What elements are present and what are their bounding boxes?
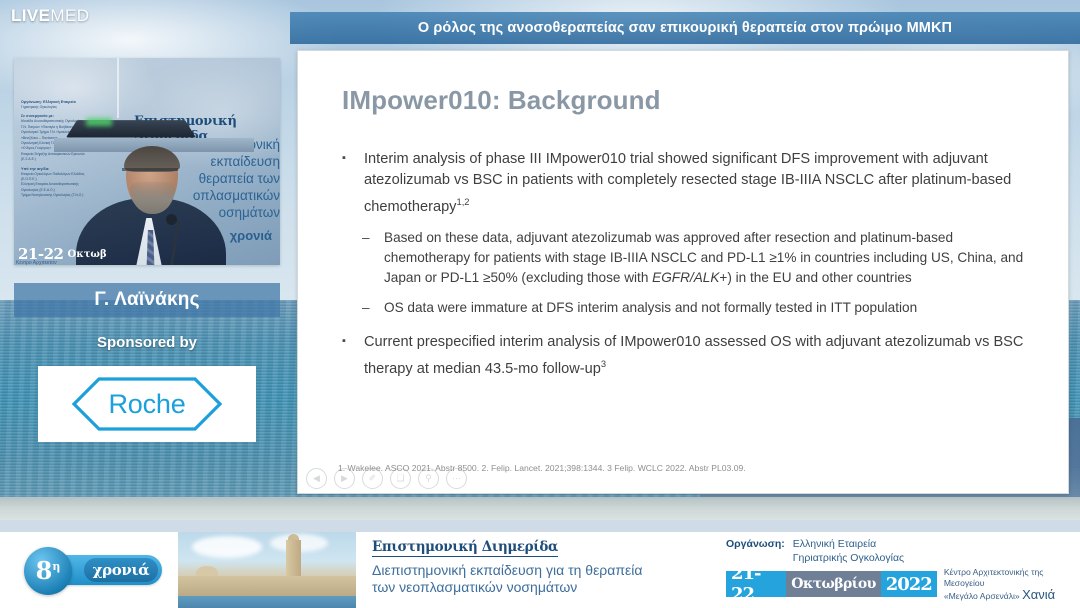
- badge-number: 8η: [36, 559, 61, 583]
- event-subtitle-line-1: Διεπιστημονική εκπαίδευση για τη θεραπεί…: [372, 562, 710, 579]
- sponsored-by-label: Sponsored by: [14, 334, 280, 351]
- speaker-video-feed[interactable]: Οργάνωση: Ελληνική Εταιρεία Γηριατρικής …: [14, 58, 280, 265]
- backdrop-divider: [117, 58, 119, 118]
- organizer-line-2: Γηριατρικής Ογκολογίας: [793, 552, 904, 566]
- anniversary-badge-area: χρονιά 8η: [0, 532, 178, 608]
- venue-photo: [178, 532, 356, 608]
- slide-subbullet: Based on these data, adjuvant atezolizum…: [338, 228, 1038, 288]
- slide-body: Interim analysis of phase III IMpower010…: [338, 149, 1038, 386]
- session-title: Ο ρόλος της ανοσοθεραπείας σαν επικουρικ…: [418, 20, 952, 36]
- badge-number-suffix: η: [52, 560, 60, 573]
- livemed-logo-light: MED: [50, 6, 89, 25]
- slide-bullet: Current prespecified interim analysis of…: [338, 332, 1038, 380]
- slide-title: IMpower010: Background: [342, 85, 661, 116]
- event-date-bar: 21-22 Οκτωβρίου 2022 Κέντρο Αρχιτεκτονικ…: [726, 571, 1080, 597]
- more-options-icon[interactable]: ⋯: [446, 468, 467, 489]
- fineprint-heading: Υπό την αιγίδα:: [21, 167, 113, 171]
- bullet-text: OS data were immature at DFS interim ana…: [384, 300, 917, 315]
- fineprint-heading: Οργάνωση: Ελληνική Εταιρεία: [21, 100, 113, 104]
- roche-logo: Roche: [71, 376, 223, 432]
- event-date-year: 2022: [881, 571, 937, 597]
- anniversary-badge: χρονιά 8η: [14, 547, 164, 593]
- zoom-slide-icon[interactable]: ⚲: [418, 468, 439, 489]
- play-slide-icon[interactable]: ▶: [334, 468, 355, 489]
- event-venue: Κέντρο Αρχιτεκτονικής της Μεσογείου «Μεγ…: [937, 571, 1080, 597]
- roche-wordmark: Roche: [71, 376, 223, 432]
- bullet-text: +) in the EU and other countries: [719, 270, 911, 285]
- speaker-name-banner: Γ. Λαϊνάκης: [14, 283, 280, 317]
- event-footer: χρονιά 8η Επιστημονική Διημερίδα Διεπιστ…: [0, 532, 1080, 608]
- bullet-text-italic: EGFR/ALK: [652, 270, 719, 285]
- event-title: Επιστημονική Διημερίδα: [372, 539, 558, 557]
- organizer-row: Οργάνωση: Ελληνική Εταιρεία Γηριατρικής …: [726, 538, 1080, 565]
- speaker-name: Γ. Λαϊνάκης: [94, 289, 199, 311]
- fineprint-line: Τμήμα Νοσηλευτικής Ογκολογίας (Τ.Ν.Ο.): [21, 193, 113, 198]
- photo-cloud: [192, 536, 262, 558]
- fineprint-line: Γηριατρικής Ογκολογίας: [21, 105, 113, 110]
- event-info: Επιστημονική Διημερίδα Διεπιστημονική εκ…: [360, 532, 710, 608]
- badge-number-value: 8: [36, 556, 53, 585]
- venue-city: Χανιά: [1022, 587, 1055, 602]
- bullet-text: Current prespecified interim analysis of…: [364, 334, 1023, 377]
- event-subtitle-line-2: των νεοπλασματικών νοσημάτων: [372, 579, 710, 596]
- venue-building: «Μεγάλο Αρσενάλι»: [944, 591, 1020, 601]
- speaker-glasses: [122, 168, 178, 171]
- venue-line-1: Κέντρο Αρχιτεκτονικής της Μεσογείου: [944, 567, 1080, 589]
- prev-slide-icon[interactable]: ◀: [306, 468, 327, 489]
- slide-subbullet: OS data were immature at DFS interim ana…: [338, 298, 1038, 318]
- event-date-month: Οκτωβρίου: [786, 571, 880, 597]
- livemed-logo[interactable]: LIVEMED: [11, 6, 89, 26]
- backdrop-year-label: χρονιά: [230, 228, 272, 243]
- presenter-view-icon[interactable]: ❑: [390, 468, 411, 489]
- badge-circle: 8η: [24, 547, 72, 595]
- slide-control-bar[interactable]: ◀ ▶ ✐ ❑ ⚲ ⋯: [306, 468, 467, 489]
- laptop-screen-glow: [86, 118, 112, 126]
- badge-text: χρονιά: [93, 561, 150, 579]
- organizer-label: Οργάνωση:: [726, 538, 785, 565]
- annotate-slide-icon[interactable]: ✐: [362, 468, 383, 489]
- bullet-superscript: 3: [601, 358, 606, 369]
- slide-bullet: Interim analysis of phase III IMpower010…: [338, 149, 1038, 218]
- presentation-slide[interactable]: IMpower010: Background Interim analysis …: [297, 50, 1069, 494]
- event-subtitle: Διεπιστημονική εκπαίδευση για τη θεραπεί…: [372, 562, 710, 596]
- fineprint-line: (Ε.Σ.Α.Ε.): [21, 157, 113, 162]
- backdrop-venue: Κέντρο Αρχιτεκτον: [16, 260, 57, 265]
- livemed-logo-bold: LIVE: [11, 6, 50, 25]
- organizer-value: Ελληνική Εταιρεία Γηριατρικής Ογκολογίας: [793, 538, 904, 565]
- event-date-days: 21-22: [726, 571, 786, 597]
- livestream-player: LIVEMED Ο ρόλος της ανοσοθεραπείας σαν ε…: [0, 0, 1080, 608]
- backdrop-date-month: Οκτωβ: [67, 249, 106, 260]
- bullet-superscript: 1,2: [456, 196, 469, 207]
- venue-line-2: «Μεγάλο Αρσενάλι» Χανιά: [944, 589, 1080, 602]
- sponsor-card[interactable]: Roche: [38, 366, 256, 442]
- organizer-line-1: Ελληνική Εταιρεία: [793, 538, 904, 552]
- microphone-head: [166, 214, 177, 225]
- session-header-bar: Ο ρόλος της ανοσοθεραπείας σαν επικουρικ…: [290, 12, 1080, 44]
- photo-fortress: [178, 576, 356, 598]
- photo-water: [178, 596, 356, 608]
- organizer-info: Οργάνωση: Ελληνική Εταιρεία Γηριατρικής …: [718, 532, 1080, 608]
- badge-pill-inner: χρονιά: [84, 558, 158, 582]
